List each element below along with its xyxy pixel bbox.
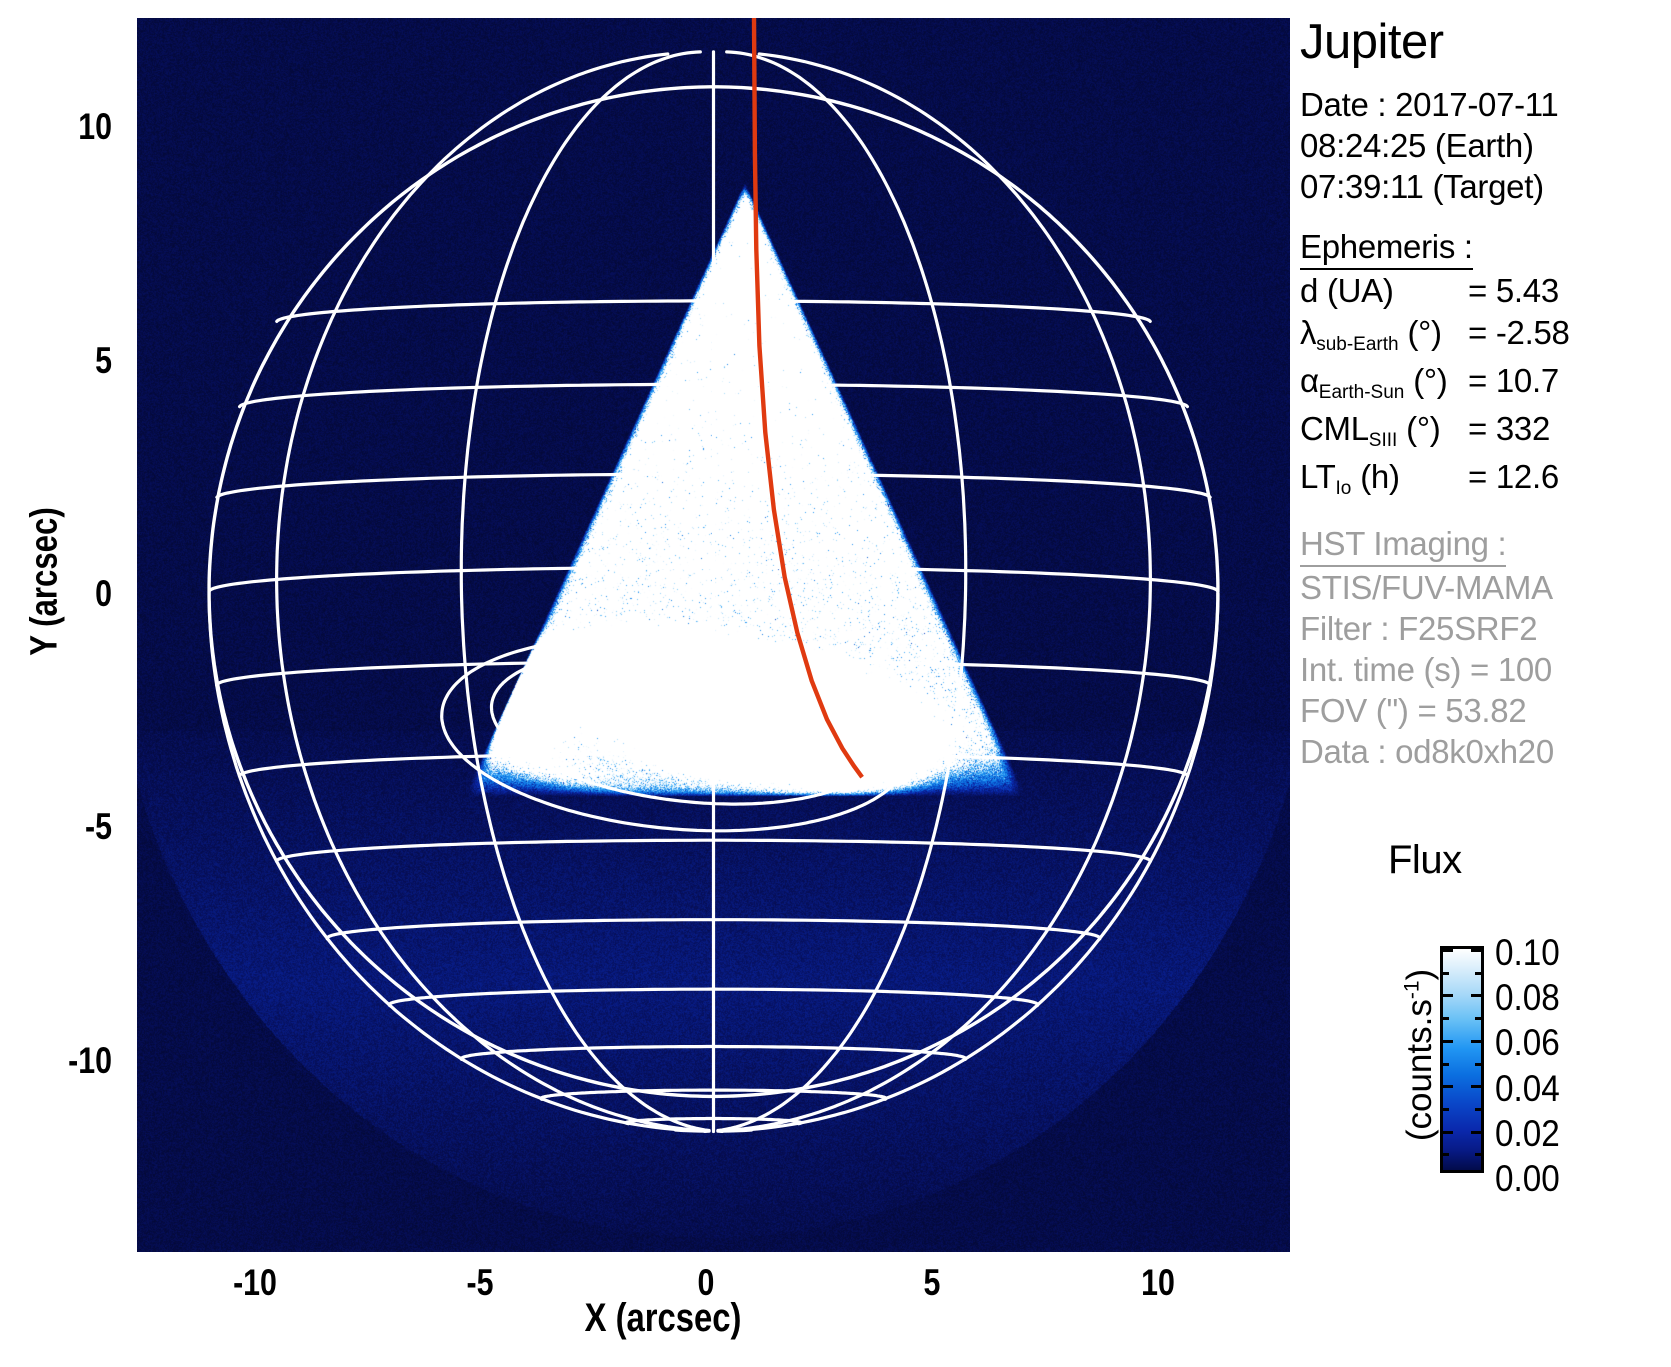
ephemeris-equals: =	[1468, 312, 1487, 354]
ephemeris-equals: =	[1468, 456, 1487, 498]
colorbar-tick-label: 0.08	[1495, 977, 1560, 1019]
ephemeris-row-cml: CMLSIII (°)= 332	[1300, 408, 1671, 456]
colorbar-tick-label: 0.06	[1495, 1022, 1560, 1064]
ephemeris-label: λsub-Earth (°)	[1300, 312, 1468, 360]
ephemeris-row-alpha: αEarth-Sun (°)= 10.7	[1300, 360, 1671, 408]
y-tick-label: 5	[14, 340, 112, 382]
ephemeris-label: LTIo (h)	[1300, 456, 1468, 504]
y-tick-label: 10	[14, 106, 112, 148]
ephemeris-row-lt: LTIo (h)= 12.6	[1300, 456, 1671, 504]
colorbar-tick-label: 0.04	[1495, 1068, 1560, 1110]
observation-date: Date : 2017-07-11	[1300, 84, 1671, 125]
colorbar-unit-label: (counts.s-1)	[1400, 925, 1440, 1185]
ephemeris-heading: Ephemeris :	[1300, 227, 1473, 270]
y-tick-label: -5	[14, 806, 112, 848]
ephemeris-value: -2.58	[1496, 312, 1570, 354]
x-tick-label: 10	[1109, 1262, 1207, 1304]
x-axis-label: X (arcsec)	[540, 1296, 786, 1341]
colorbar-unit-text: (counts.s	[1400, 999, 1439, 1141]
hst-integration-time: Int. time (s) = 100	[1300, 649, 1671, 690]
ephemeris-label: αEarth-Sun (°)	[1300, 360, 1468, 408]
x-tick-label: -10	[206, 1262, 304, 1304]
hst-imaging-heading: HST Imaging :	[1300, 524, 1506, 567]
colorbar-unit-close: )	[1400, 969, 1439, 981]
ephemeris-subscript: Io	[1335, 478, 1351, 499]
x-tick-label: -5	[431, 1262, 529, 1304]
observation-time-target: 07:39:11 (Target)	[1300, 166, 1671, 207]
colorbar-unit-exponent: -1	[1400, 980, 1423, 999]
ephemeris-label: d (UA)	[1300, 270, 1468, 312]
ephemeris-value: 10.7	[1496, 360, 1559, 402]
ephemeris-equals: =	[1468, 270, 1487, 312]
hst-dataset-id: Data : od8k0xh20	[1300, 731, 1671, 772]
hst-fov: FOV (") = 53.82	[1300, 690, 1671, 731]
x-tick-label: 5	[883, 1262, 981, 1304]
colorbar-title: Flux	[1388, 838, 1462, 883]
y-axis-label: Y (arcsec)	[24, 459, 67, 705]
observation-time-earth: 08:24:25 (Earth)	[1300, 125, 1671, 166]
coordinate-grid-overlay	[137, 18, 1290, 1252]
colorbar-tick-label: 0.02	[1495, 1113, 1560, 1155]
ephemeris-value: 332	[1496, 408, 1550, 450]
ephemeris-subscript: Earth-Sun	[1319, 382, 1405, 403]
colorbar-gradient	[1440, 946, 1484, 1173]
target-title: Jupiter	[1300, 14, 1671, 70]
hst-instrument: STIS/FUV-MAMA	[1300, 567, 1671, 608]
ephemeris-equals: =	[1468, 408, 1487, 450]
planet-grid-lines	[209, 52, 1218, 1132]
ephemeris-subscript: SIII	[1369, 430, 1398, 451]
ephemeris-value: 12.6	[1496, 456, 1559, 498]
colorbar-tick-label: 0.10	[1495, 932, 1560, 974]
hst-filter: Filter : F25SRF2	[1300, 608, 1671, 649]
jupiter-image-plot	[137, 18, 1290, 1252]
ephemeris-value: 5.43	[1496, 270, 1559, 312]
ephemeris-section: Ephemeris : d (UA)= 5.43 λsub-Earth (°)=…	[1300, 227, 1671, 504]
ephemeris-equals: =	[1468, 360, 1487, 402]
observation-info-panel: Jupiter Date : 2017-07-11 08:24:25 (Eart…	[1300, 14, 1671, 772]
ephemeris-row-lambda: λsub-Earth (°)= -2.58	[1300, 312, 1671, 360]
ephemeris-label: CMLSIII (°)	[1300, 408, 1468, 456]
ephemeris-row-d: d (UA)= 5.43	[1300, 270, 1671, 312]
ephemeris-subscript: sub-Earth	[1316, 334, 1398, 355]
y-tick-label: -10	[14, 1040, 112, 1082]
hst-imaging-section: HST Imaging : STIS/FUV-MAMA Filter : F25…	[1300, 524, 1671, 772]
colorbar-tick-label: 0.00	[1495, 1158, 1560, 1200]
